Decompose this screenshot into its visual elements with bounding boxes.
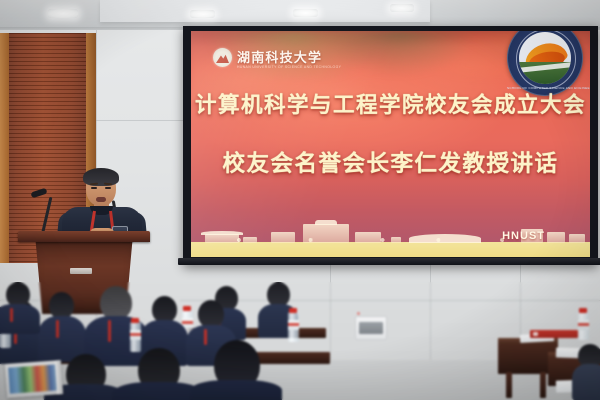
audience-member-front (196, 340, 276, 400)
speaker-mouth (96, 197, 106, 202)
bottle-label (130, 330, 141, 340)
bottle-label (288, 320, 299, 330)
downlight-icon (390, 4, 414, 12)
chair-leg (540, 372, 546, 398)
university-name-cn: 湖南科技大学 (237, 51, 322, 64)
booklet-cover-image (8, 364, 57, 393)
bottle-cap (289, 308, 297, 313)
wall-seam (96, 120, 186, 121)
downlight-icon (293, 9, 318, 17)
speaker-hair (83, 168, 119, 186)
podium-top (18, 231, 150, 242)
audience-head (152, 296, 177, 323)
mountain-arc-icon (213, 48, 232, 67)
projection-screen-rail (178, 258, 600, 265)
campus-skyline-graphic: HNUST (191, 217, 590, 257)
skyline-ground-band (191, 242, 590, 257)
skyline-roof (201, 231, 243, 235)
speaker-eye (91, 187, 97, 189)
bottle-label (578, 320, 589, 330)
wall-seam (430, 262, 431, 362)
chair-leg (506, 372, 512, 398)
lanyard-strap (56, 320, 59, 338)
university-name-en: HUNAN UNIVERSITY OF SCIENCE AND TECHNOLO… (237, 65, 341, 69)
audience-member-front (120, 348, 196, 400)
audience-head-grey (100, 286, 132, 320)
indicator-dot-icon (357, 312, 360, 315)
lanyard-strap (108, 320, 111, 342)
slide-headline-secondary: 校友会名誉会长李仁发教授讲话 (191, 146, 590, 178)
ceiling-soffit (100, 0, 430, 22)
college-emblem: 湖南科技大学计算机科学与工程学院 SCHOOL OF COMPUTER SCIE… (507, 31, 583, 96)
emblem-core (519, 32, 571, 84)
audience-torso (0, 304, 40, 334)
event-booklet (5, 360, 63, 398)
slide-headline-primary: 计算机科学与工程学院校友会成立大会 (191, 88, 590, 119)
wood-panel-frame-left (0, 33, 9, 263)
bottle-cap (579, 308, 587, 313)
bottle-cap (131, 318, 139, 323)
audience-member-right (576, 344, 600, 400)
audience-torso (190, 380, 282, 400)
audience-head (198, 300, 224, 328)
speaker-person (54, 170, 154, 238)
lanyard-strap (10, 308, 13, 322)
podium-plate (70, 268, 92, 274)
desk-name-card (530, 330, 578, 338)
hnust-wordmark: HNUST (502, 230, 545, 242)
speaker-eye (105, 187, 111, 189)
skyline-roof (315, 220, 337, 225)
projected-slide: 湖南科技大学 HUNAN UNIVERSITY OF SCIENCE AND T… (191, 31, 590, 257)
downlight-icon (48, 9, 78, 18)
wall-seam (330, 262, 331, 362)
audience-head (49, 292, 74, 319)
audience-member (40, 292, 84, 362)
electrical-panel-box (355, 316, 387, 340)
downlight-icon (190, 10, 215, 18)
screenshot-root: 湖南科技大学 HUNAN UNIVERSITY OF SCIENCE AND T… (0, 0, 600, 400)
audience-member (0, 282, 38, 332)
audience-torso (572, 364, 600, 400)
